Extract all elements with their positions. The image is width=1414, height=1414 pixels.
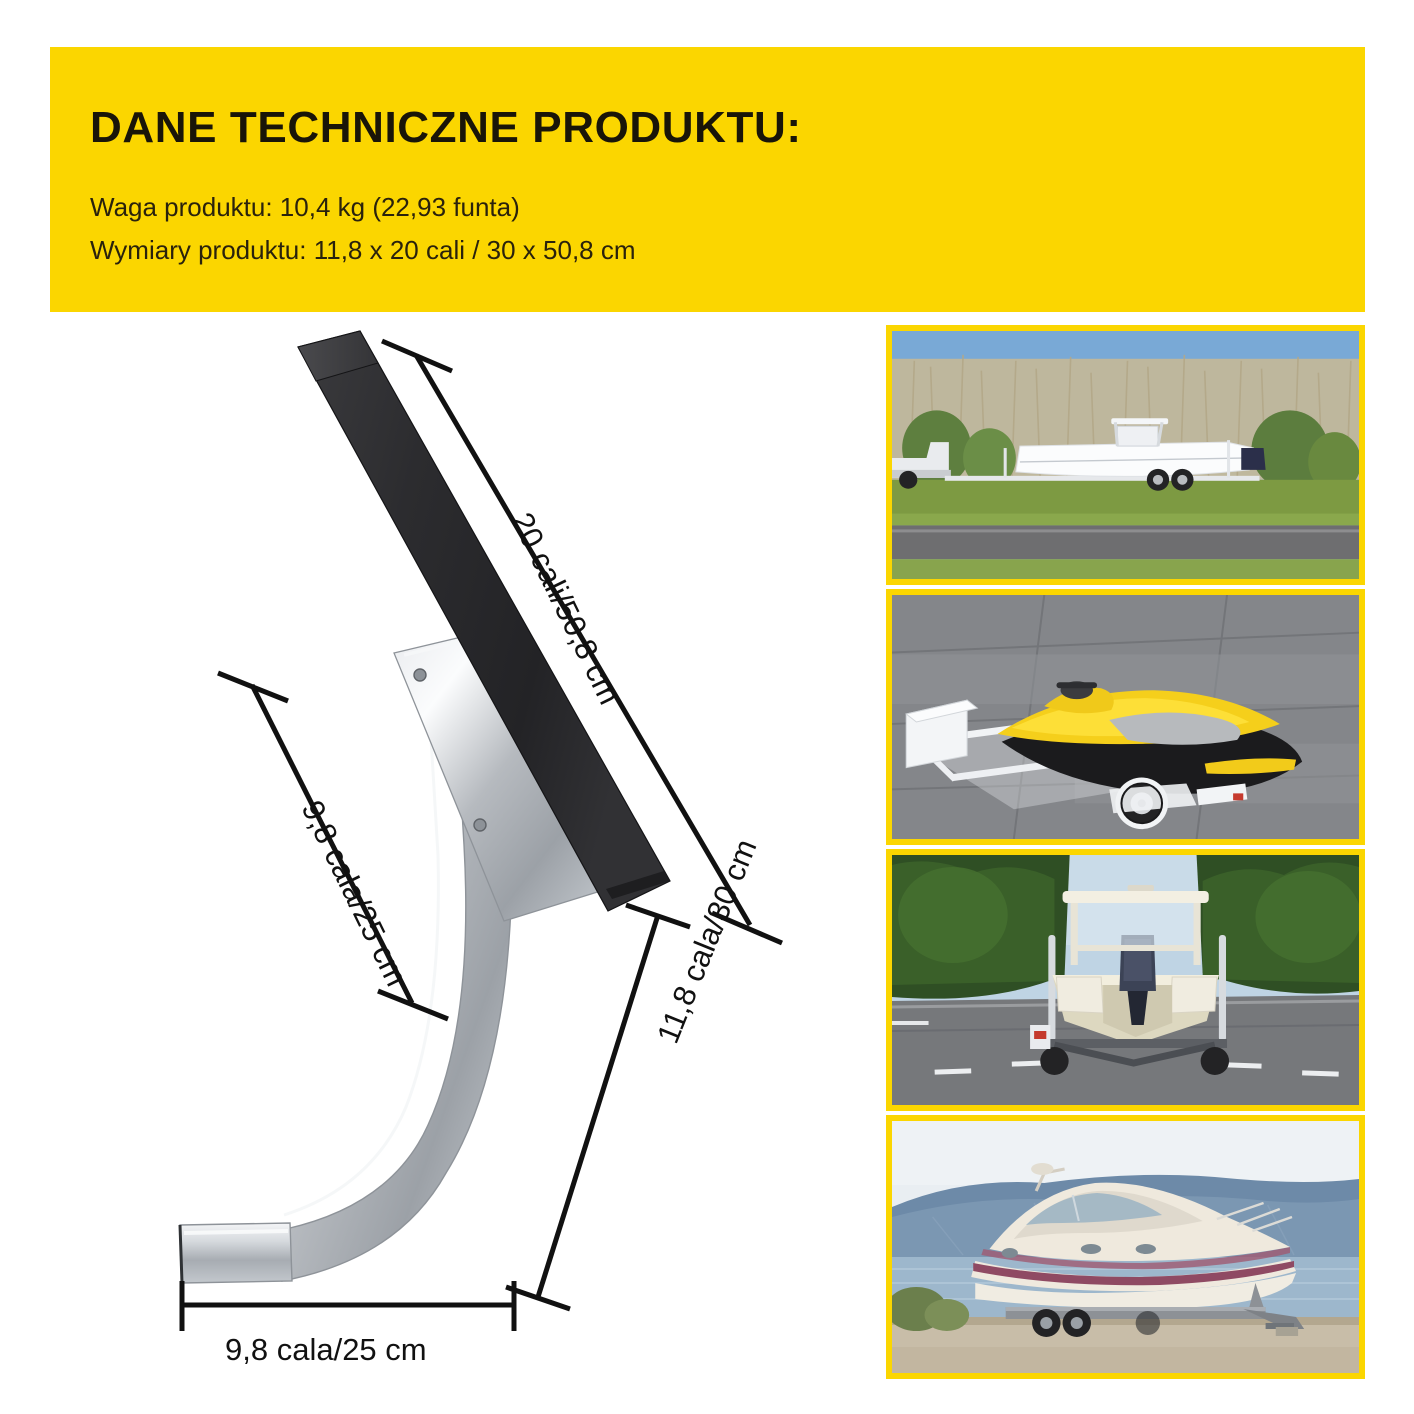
photo-jetski-trailer [886,589,1365,845]
application-photo-gallery [886,325,1365,1383]
dim-tick-pad-top [382,341,452,371]
bolt-icon [414,669,426,681]
photo-boat-rear-highway-image [892,855,1359,1105]
photo-jetski-trailer-image [892,595,1359,839]
photo-boat-on-road [886,325,1365,585]
photo-boat-on-road-image [892,331,1359,579]
dim-tick-bracket-top [218,673,288,701]
dim-tick-upright-top [626,905,690,927]
product-dimension-diagram: 20 cali/50,8 cm 9,8 cala/25 cm 11,8 cala… [60,325,860,1385]
page-title: DANE TECHNICZNE PRODUKTU: [90,103,802,153]
product-weight-line: Waga produktu: 10,4 kg (22,93 funta) [90,192,520,223]
technical-data-banner: DANE TECHNICZNE PRODUKTU: Waga produktu:… [50,47,1365,312]
bracket-foot-highlight [184,1231,288,1233]
dim-tick-bracket-bottom [378,991,448,1019]
bracket-foot-endcap [180,1225,182,1283]
photo-boat-rear-highway [886,849,1365,1111]
photo-cruiser-slipway-image [892,1121,1359,1373]
dim-line-upright-height [538,915,658,1297]
bolt-icon [474,819,486,831]
photo-cruiser-slipway [886,1115,1365,1379]
product-spec-infographic: DANE TECHNICZNE PRODUKTU: Waga produktu:… [0,0,1414,1414]
dimension-label-base-length: 9,8 cala/25 cm [225,1332,427,1368]
product-dimensions-line: Wymiary produktu: 11,8 x 20 cali / 30 x … [90,235,636,266]
